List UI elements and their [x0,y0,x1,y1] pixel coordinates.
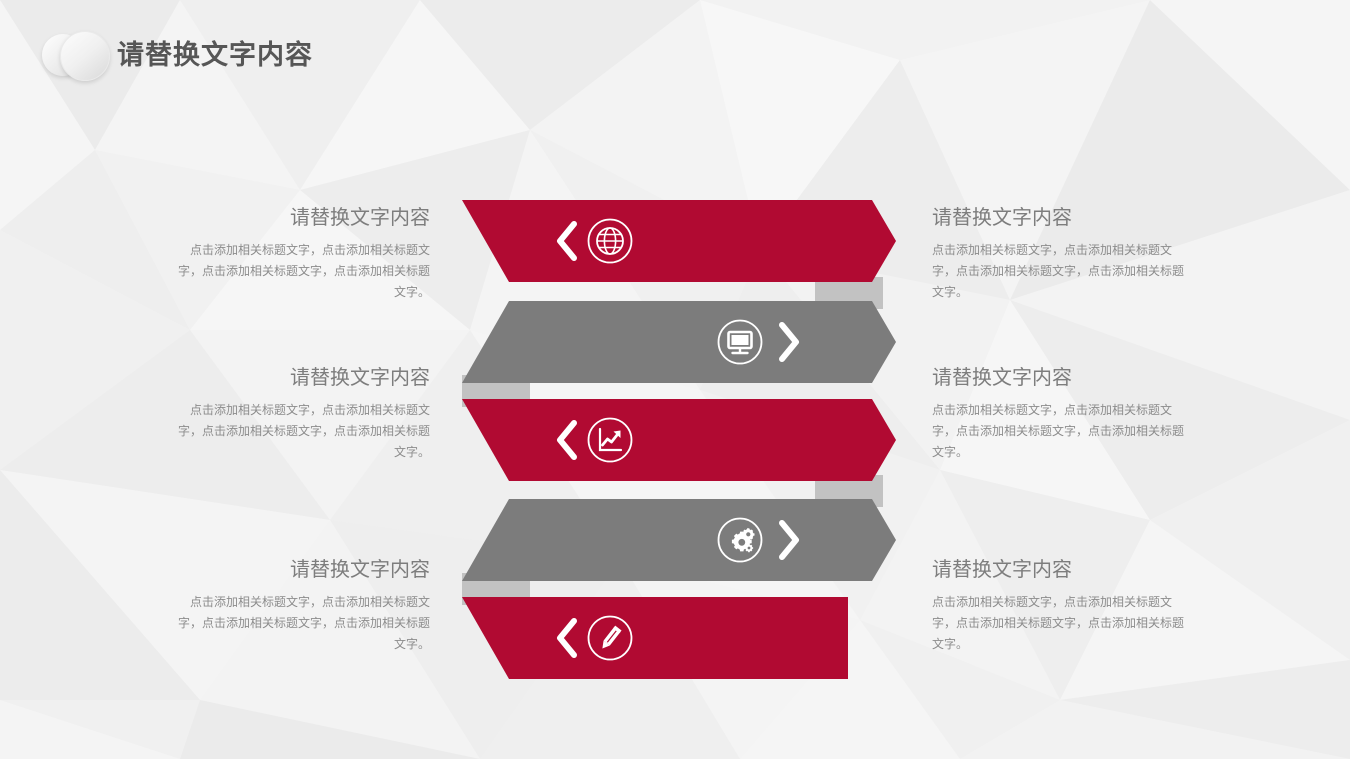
slide-header: 请替换文字内容 [0,0,1350,110]
monitor-icon [716,318,764,366]
banner-row-1[interactable] [462,200,896,282]
chevron-left-icon [554,617,580,659]
text-block-heading: 请替换文字内容 [168,365,430,391]
banner-row-5[interactable] [462,597,848,679]
growth-chart-icon [586,416,634,464]
banner-row-2[interactable] [462,301,896,383]
chevron-right-icon [776,321,802,363]
text-block-body: 点击添加相关标题文字，点击添加相关标题文字，点击添加相关标题文字，点击添加相关标… [168,592,430,655]
text-block-heading: 请替换文字内容 [932,205,1194,231]
text-block-heading: 请替换文字内容 [932,557,1194,583]
text-block-right-2: 请替换文字内容 点击添加相关标题文字，点击添加相关标题文字，点击添加相关标题文字… [932,365,1194,463]
banner-row-3[interactable] [462,399,896,481]
chevron-left-icon [554,419,580,461]
globe-icon [586,217,634,265]
logo-circle-front [60,31,110,81]
text-block-body: 点击添加相关标题文字，点击添加相关标题文字，点击添加相关标题文字，点击添加相关标… [932,592,1194,655]
pencil-icon [586,614,634,662]
two-circles-logo-icon [42,28,118,78]
gears-icon [716,516,764,564]
text-block-body: 点击添加相关标题文字，点击添加相关标题文字，点击添加相关标题文字，点击添加相关标… [168,240,430,303]
text-block-heading: 请替换文字内容 [168,205,430,231]
text-block-heading: 请替换文字内容 [168,557,430,583]
chevron-right-icon [776,519,802,561]
text-block-body: 点击添加相关标题文字，点击添加相关标题文字，点击添加相关标题文字，点击添加相关标… [932,240,1194,303]
text-block-body: 点击添加相关标题文字，点击添加相关标题文字，点击添加相关标题文字，点击添加相关标… [168,400,430,463]
text-block-left-2: 请替换文字内容 点击添加相关标题文字，点击添加相关标题文字，点击添加相关标题文字… [168,365,430,463]
text-block-left-1: 请替换文字内容 点击添加相关标题文字，点击添加相关标题文字，点击添加相关标题文字… [168,205,430,303]
banner-row-4[interactable] [462,499,896,581]
text-block-body: 点击添加相关标题文字，点击添加相关标题文字，点击添加相关标题文字，点击添加相关标… [932,400,1194,463]
text-block-heading: 请替换文字内容 [932,365,1194,391]
page-title: 请替换文字内容 [117,38,313,72]
text-block-left-3: 请替换文字内容 点击添加相关标题文字，点击添加相关标题文字，点击添加相关标题文字… [168,557,430,655]
slide-canvas: 请替换文字内容 [0,0,1350,759]
text-block-right-1: 请替换文字内容 点击添加相关标题文字，点击添加相关标题文字，点击添加相关标题文字… [932,205,1194,303]
chevron-left-icon [554,220,580,262]
text-block-right-3: 请替换文字内容 点击添加相关标题文字，点击添加相关标题文字，点击添加相关标题文字… [932,557,1194,655]
